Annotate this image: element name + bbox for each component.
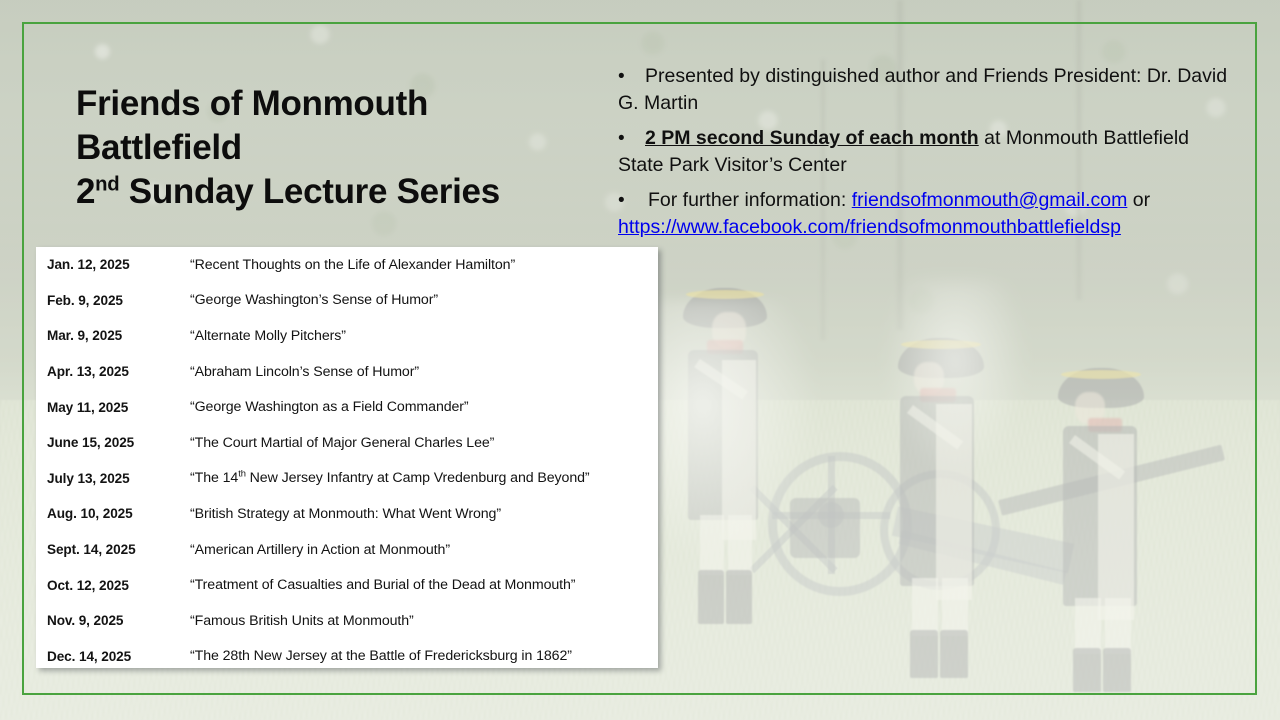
schedule-grid: Jan. 12, 2025 “Recent Thoughts on the Li… <box>36 247 658 674</box>
row-title: “The 28th New Jersey at the Battle of Fr… <box>190 639 658 675</box>
row-title: “George Washington’s Sense of Humor” <box>190 283 658 319</box>
table-row: June 15, 2025 “The Court Martial of Majo… <box>36 425 658 461</box>
row-date: Oct. 12, 2025 <box>36 567 190 603</box>
contact-conjunction: or <box>1127 189 1150 211</box>
row-title: “Famous British Units at Monmouth” <box>190 603 658 639</box>
table-row: July 13, 2025 “The 14th New Jersey Infan… <box>36 461 658 497</box>
row-title: “The 14th New Jersey Infantry at Camp Vr… <box>190 461 658 497</box>
title-ordinal-number: 2 <box>76 172 95 211</box>
bullet-glyph-icon: • <box>618 187 648 214</box>
row-date: Sept. 14, 2025 <box>36 532 190 568</box>
row-date: Apr. 13, 2025 <box>36 354 190 390</box>
table-row: Apr. 13, 2025 “Abraham Lincoln’s Sense o… <box>36 354 658 390</box>
row-title: “The Court Martial of Major General Char… <box>190 425 658 461</box>
row-title-prefix: “The 14 <box>190 470 238 486</box>
title-line-3: 2nd Sunday Lecture Series <box>76 170 596 214</box>
row-title: “Abraham Lincoln’s Sense of Humor” <box>190 354 658 390</box>
row-date: Dec. 14, 2025 <box>36 639 190 675</box>
slide-canvas: Friends of Monmouth Battlefield 2nd Sund… <box>0 0 1280 720</box>
row-date: May 11, 2025 <box>36 389 190 425</box>
title-line-2: Battlefield <box>76 126 596 170</box>
title-ordinal-suffix: nd <box>95 173 119 195</box>
row-date: Feb. 9, 2025 <box>36 283 190 319</box>
contact-lead-text: For further information: <box>648 189 852 211</box>
bullet-contact: •For further information: friendsofmonmo… <box>618 187 1233 241</box>
table-row: Mar. 9, 2025 “Alternate Molly Pitchers” <box>36 318 658 354</box>
row-title-suffix: New Jersey Infantry at Camp Vredenburg a… <box>246 470 590 486</box>
page-title: Friends of Monmouth Battlefield 2nd Sund… <box>76 82 596 214</box>
schedule-body: Jan. 12, 2025 “Recent Thoughts on the Li… <box>36 247 658 674</box>
bullet-presenter: •Presented by distinguished author and F… <box>618 63 1233 117</box>
table-row: Nov. 9, 2025 “Famous British Units at Mo… <box>36 603 658 639</box>
table-row: Jan. 12, 2025 “Recent Thoughts on the Li… <box>36 247 658 283</box>
lecture-schedule-table: Jan. 12, 2025 “Recent Thoughts on the Li… <box>36 247 658 668</box>
row-title: “Alternate Molly Pitchers” <box>190 318 658 354</box>
table-row: Dec. 14, 2025 “The 28th New Jersey at th… <box>36 639 658 675</box>
contact-email-link[interactable]: friendsofmonmouth@gmail.com <box>852 189 1128 211</box>
row-title: “American Artillery in Action at Monmout… <box>190 532 658 568</box>
table-row: May 11, 2025 “George Washington as a Fie… <box>36 389 658 425</box>
info-bullet-list: •Presented by distinguished author and F… <box>618 63 1233 249</box>
table-row: Oct. 12, 2025 “Treatment of Casualties a… <box>36 567 658 603</box>
row-title-ordinal-suffix: th <box>238 469 246 479</box>
row-date: June 15, 2025 <box>36 425 190 461</box>
row-title: “British Strategy at Monmouth: What Went… <box>190 496 658 532</box>
table-row: Feb. 9, 2025 “George Washington’s Sense … <box>36 283 658 319</box>
presenter-text: Presented by distinguished author and Fr… <box>618 65 1227 114</box>
row-date: Nov. 9, 2025 <box>36 603 190 639</box>
row-date: Jan. 12, 2025 <box>36 247 190 283</box>
schedule-time-emphasis: 2 PM second Sunday of each month <box>645 127 979 149</box>
table-row: Aug. 10, 2025 “British Strategy at Monmo… <box>36 496 658 532</box>
title-line-1: Friends of Monmouth <box>76 82 596 126</box>
bullet-glyph-icon: • <box>618 125 645 152</box>
row-title: “Recent Thoughts on the Life of Alexande… <box>190 247 658 283</box>
row-title: “George Washington as a Field Commander” <box>190 389 658 425</box>
row-title: “Treatment of Casualties and Burial of t… <box>190 567 658 603</box>
row-date: July 13, 2025 <box>36 461 190 497</box>
table-row: Sept. 14, 2025 “American Artillery in Ac… <box>36 532 658 568</box>
facebook-url-link[interactable]: https://www.facebook.com/friendsofmonmou… <box>618 216 1121 238</box>
bullet-schedule-location: •2 PM second Sunday of each month at Mon… <box>618 125 1233 179</box>
row-date: Aug. 10, 2025 <box>36 496 190 532</box>
bullet-glyph-icon: • <box>618 63 645 90</box>
row-date: Mar. 9, 2025 <box>36 318 190 354</box>
title-line-3-text: Sunday Lecture Series <box>119 172 500 211</box>
